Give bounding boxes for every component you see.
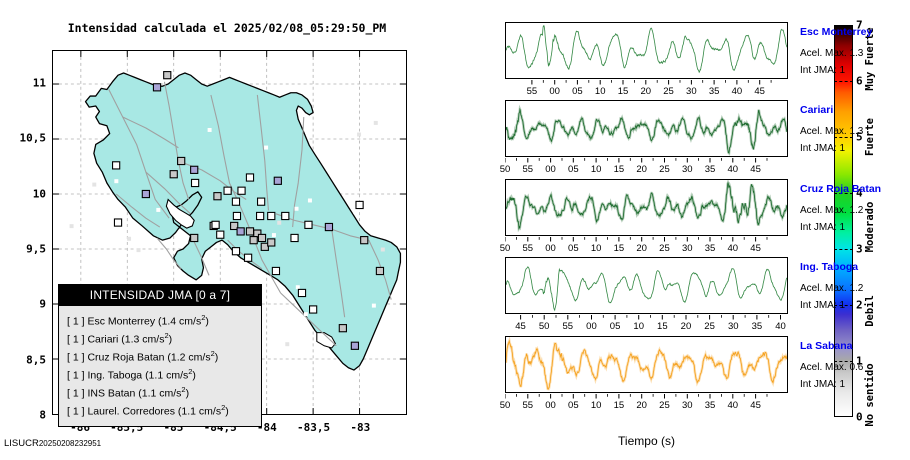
- station-marker[interactable]: [258, 234, 265, 241]
- footer-org: LISUCR: [4, 438, 39, 449]
- time-tick-label: 55: [527, 86, 538, 97]
- time-tick-label: 35: [752, 321, 763, 332]
- station-marker[interactable]: [113, 162, 120, 169]
- seismic-intensity-report: Intensidad calculada el 2025/02/08_05:29…: [0, 0, 910, 460]
- waveform-x-axis-label: Tiempo (s): [505, 434, 788, 448]
- station-marker[interactable]: [238, 187, 245, 194]
- time-tick-label: 40: [728, 400, 739, 411]
- station-marker[interactable]: [153, 84, 160, 91]
- trace-block: 5500051015202530354045Esc MonterreyAcel.…: [500, 22, 910, 101]
- trace-accel-max: Acel. Max. 1.3: [800, 48, 863, 59]
- time-tick-label: 15: [614, 164, 625, 175]
- station-marker[interactable]: [339, 325, 346, 332]
- time-tick-label: 00: [549, 86, 560, 97]
- legend-accel-close: ): [215, 352, 219, 364]
- station-marker[interactable]: [212, 221, 219, 228]
- station-marker[interactable]: [114, 219, 121, 226]
- station-marker[interactable]: [192, 179, 199, 186]
- time-tick-label: 25: [663, 86, 674, 97]
- time-tick-label: 05: [568, 243, 579, 254]
- trace-accel-max: Acel. Max. 1.2: [800, 205, 863, 216]
- station-marker[interactable]: [376, 267, 383, 274]
- time-tick-label: 20: [636, 400, 647, 411]
- time-tick-label: 15: [614, 400, 625, 411]
- trace-block: 505500051015202530354045CariariAcel. Max…: [500, 100, 910, 179]
- time-tick-label: 10: [591, 400, 602, 411]
- trace-int-jma: Int JMA: 1: [800, 222, 845, 233]
- time-tick-label: 35: [705, 164, 716, 175]
- map-x-tick: -83: [350, 421, 370, 434]
- trace-int-jma: Int JMA: 1: [800, 65, 845, 76]
- legend-accel: (1.1 cm/s: [145, 370, 188, 382]
- trace-int-jma: Int JMA: 1: [800, 379, 845, 390]
- trace-block: 505500051015202530354045La SabanaAcel. M…: [500, 336, 910, 415]
- legend-accel-close: ): [205, 316, 209, 328]
- colorbar-panel: 01234567No sentidoDebilModeradoFuerteMuy…: [415, 0, 500, 460]
- time-tick-label: 40: [728, 164, 739, 175]
- trace-accel-max: Acel. Max. 1.3: [800, 126, 863, 137]
- station-marker[interactable]: [298, 289, 305, 296]
- legend-accel: (1.2 cm/s: [167, 352, 210, 364]
- time-tick-label: 50: [500, 400, 511, 411]
- waveform-time-axis: 505500051015202530354045: [505, 394, 788, 411]
- time-tick-label: 20: [640, 86, 651, 97]
- station-marker[interactable]: [246, 174, 253, 181]
- legend-accel: (1.4 cm/s: [158, 316, 201, 328]
- legend-station-name: Esc Monterrey: [87, 316, 155, 328]
- legend-level: [ 1 ]: [67, 406, 85, 418]
- time-tick-label: 20: [636, 164, 647, 175]
- map-y-tick: 10: [0, 187, 46, 200]
- station-marker[interactable]: [217, 231, 224, 238]
- waveform-time-axis: 505500051015202530354045: [505, 237, 788, 254]
- time-tick-label: 50: [539, 321, 550, 332]
- trace-block: 455055000510152025303540Ing. TabogaAcel.…: [500, 257, 910, 336]
- waveform-line: [506, 101, 787, 156]
- map-y-tick: 9,5: [0, 243, 46, 256]
- trace-int-jma: Int JMA: 1: [800, 143, 845, 154]
- time-tick-label: 55: [522, 243, 533, 254]
- time-tick-label: 00: [545, 164, 556, 175]
- station-marker[interactable]: [224, 187, 231, 194]
- time-tick-label: 45: [750, 400, 761, 411]
- time-tick-label: 10: [591, 243, 602, 254]
- station-marker[interactable]: [325, 223, 332, 230]
- legend-row: [ 1 ] Cariari (1.3 cm/s2): [67, 329, 261, 347]
- legend-accel: (1.1 cm/s: [138, 388, 181, 400]
- time-tick-label: 35: [709, 86, 720, 97]
- map-y-tick: 8,5: [0, 353, 46, 366]
- legend-level: [ 1 ]: [67, 370, 85, 382]
- time-tick-label: 20: [636, 243, 647, 254]
- waveform-plot[interactable]: [505, 257, 788, 314]
- map-x-tick: -83,5: [297, 421, 330, 434]
- legend-level: [ 1 ]: [67, 316, 85, 328]
- waveform-line: [506, 258, 787, 313]
- intensity-legend-title: INTENSIDAD JMA [0 a 7]: [59, 285, 261, 306]
- station-marker[interactable]: [250, 237, 257, 244]
- legend-station-name: Cruz Roja Batan: [87, 352, 164, 364]
- intensity-legend-list: [ 1 ] Esc Monterrey (1.4 cm/s2)[ 1 ] Car…: [59, 306, 261, 426]
- station-marker[interactable]: [351, 342, 358, 349]
- station-marker[interactable]: [268, 212, 275, 219]
- time-tick-label: 40: [775, 321, 786, 332]
- waveform-plot[interactable]: [505, 179, 788, 236]
- legend-accel-close: ): [225, 406, 229, 418]
- time-tick-label: 45: [750, 243, 761, 254]
- time-tick-label: 00: [545, 400, 556, 411]
- time-tick-label: 50: [500, 243, 511, 254]
- waveform-line: [506, 180, 787, 235]
- time-tick-label: 30: [682, 164, 693, 175]
- trace-block: 505500051015202530354045Cruz Roja BatanA…: [500, 179, 910, 258]
- map-y-tick: 8: [0, 409, 46, 422]
- time-tick-label: 05: [568, 400, 579, 411]
- time-tick-label: 45: [515, 321, 526, 332]
- time-tick-label: 35: [705, 400, 716, 411]
- legend-accel: (1.1 cm/s: [178, 406, 221, 418]
- station-marker[interactable]: [142, 190, 149, 197]
- station-marker[interactable]: [257, 212, 264, 219]
- trace-accel-max: Acel. Max. 0.6: [800, 362, 863, 373]
- station-marker[interactable]: [282, 212, 289, 219]
- station-marker[interactable]: [170, 171, 177, 178]
- map-y-tick: 9: [0, 298, 46, 311]
- waveform-plot[interactable]: [505, 100, 788, 157]
- legend-station-name: Ing. Taboga: [87, 370, 142, 382]
- time-tick-label: 45: [754, 86, 765, 97]
- waveform-plot[interactable]: [505, 22, 788, 79]
- time-tick-label: 40: [728, 243, 739, 254]
- map-y-tick: 10,5: [0, 132, 46, 145]
- trace-accel-max: Acel. Max. 1.2: [800, 283, 863, 294]
- legend-station-name: INS Batan: [87, 388, 135, 400]
- station-marker[interactable]: [274, 177, 281, 184]
- station-marker[interactable]: [356, 201, 363, 208]
- time-tick-label: 15: [618, 86, 629, 97]
- station-marker[interactable]: [246, 228, 253, 235]
- legend-station-name: Laurel. Corredores: [87, 406, 175, 418]
- station-marker[interactable]: [178, 157, 185, 164]
- time-tick-label: 30: [686, 86, 697, 97]
- time-tick-label: 55: [563, 321, 574, 332]
- time-tick-label: 55: [522, 400, 533, 411]
- trace-station-name: Esc Monterrey: [800, 26, 872, 38]
- waveform-panel: 5500051015202530354045Esc MonterreyAcel.…: [500, 0, 910, 460]
- legend-level: [ 1 ]: [67, 334, 85, 346]
- time-tick-label: 30: [728, 321, 739, 332]
- time-tick-label: 10: [591, 164, 602, 175]
- intensity-legend: INTENSIDAD JMA [0 a 7] [ 1 ] Esc Monterr…: [58, 284, 262, 427]
- legend-accel: (1.3 cm/s: [121, 334, 164, 346]
- map-y-tick: 11: [0, 77, 46, 90]
- legend-accel-close: ): [186, 388, 190, 400]
- footer-credit: LISUCR20250208232951: [4, 438, 101, 449]
- time-tick-label: 15: [657, 321, 668, 332]
- station-marker[interactable]: [191, 166, 198, 173]
- time-tick-label: 10: [595, 86, 606, 97]
- legend-level: [ 1 ]: [67, 352, 85, 364]
- time-tick-label: 00: [545, 243, 556, 254]
- time-tick-label: 10: [633, 321, 644, 332]
- legend-row: [ 1 ] Ing. Taboga (1.1 cm/s2): [67, 365, 261, 383]
- legend-accel-close: ): [192, 370, 196, 382]
- time-tick-label: 50: [500, 164, 511, 175]
- time-tick-label: 15: [614, 243, 625, 254]
- legend-row: [ 1 ] Cruz Roja Batan (1.2 cm/s2): [67, 347, 261, 365]
- station-marker[interactable]: [268, 239, 275, 246]
- footer-timestamp: 20250208232951: [39, 439, 101, 448]
- waveform-time-axis: 5500051015202530354045: [505, 80, 788, 97]
- station-marker[interactable]: [164, 72, 171, 79]
- time-tick-label: 25: [659, 400, 670, 411]
- station-marker[interactable]: [233, 212, 240, 219]
- station-marker[interactable]: [232, 198, 239, 205]
- time-tick-label: 05: [572, 86, 583, 97]
- time-tick-label: 05: [568, 164, 579, 175]
- time-tick-label: 25: [704, 321, 715, 332]
- station-marker[interactable]: [258, 198, 265, 205]
- station-marker[interactable]: [310, 306, 317, 313]
- legend-row: [ 1 ] Laurel. Corredores (1.1 cm/s2): [67, 401, 261, 419]
- legend-row: [ 1 ] INS Batan (1.1 cm/s2): [67, 383, 261, 401]
- legend-row: [ 1 ] Esc Monterrey (1.4 cm/s2): [67, 311, 261, 329]
- station-marker[interactable]: [245, 254, 252, 261]
- station-marker[interactable]: [291, 234, 298, 241]
- station-marker[interactable]: [361, 237, 368, 244]
- station-marker[interactable]: [191, 234, 198, 241]
- waveform-time-axis: 455055000510152025303540: [505, 315, 788, 332]
- station-marker[interactable]: [237, 228, 244, 235]
- station-marker[interactable]: [305, 221, 312, 228]
- waveform-time-axis: 505500051015202530354045: [505, 158, 788, 175]
- legend-accel-close: ): [169, 334, 173, 346]
- time-tick-label: 30: [682, 243, 693, 254]
- waveform-plot[interactable]: [505, 336, 788, 393]
- trace-int-jma: Int JMA: 1: [800, 300, 845, 311]
- time-tick-label: 05: [610, 321, 621, 332]
- time-tick-label: 25: [659, 243, 670, 254]
- time-tick-label: 40: [732, 86, 743, 97]
- trace-station-name: Ing. Taboga: [800, 261, 858, 273]
- time-tick-label: 55: [522, 164, 533, 175]
- time-tick-label: 45: [750, 164, 761, 175]
- time-tick-label: 35: [705, 243, 716, 254]
- time-tick-label: 20: [681, 321, 692, 332]
- station-marker[interactable]: [272, 267, 279, 274]
- waveform-line: [506, 337, 787, 392]
- legend-level: [ 1 ]: [67, 388, 85, 400]
- time-tick-label: 30: [682, 400, 693, 411]
- trace-station-name: La Sabana: [800, 340, 853, 352]
- waveform-line: [506, 23, 787, 78]
- station-marker[interactable]: [232, 248, 239, 255]
- trace-station-name: Cruz Roja Batan: [800, 183, 881, 195]
- map-panel: Intensidad calculada el 2025/02/08_05:29…: [0, 0, 470, 460]
- legend-station-name: Cariari: [87, 334, 118, 346]
- trace-station-name: Cariari: [800, 104, 833, 116]
- station-marker[interactable]: [214, 193, 221, 200]
- time-tick-label: 00: [586, 321, 597, 332]
- page-title: Intensidad calculada el 2025/02/08_05:29…: [52, 21, 402, 35]
- time-tick-label: 25: [659, 164, 670, 175]
